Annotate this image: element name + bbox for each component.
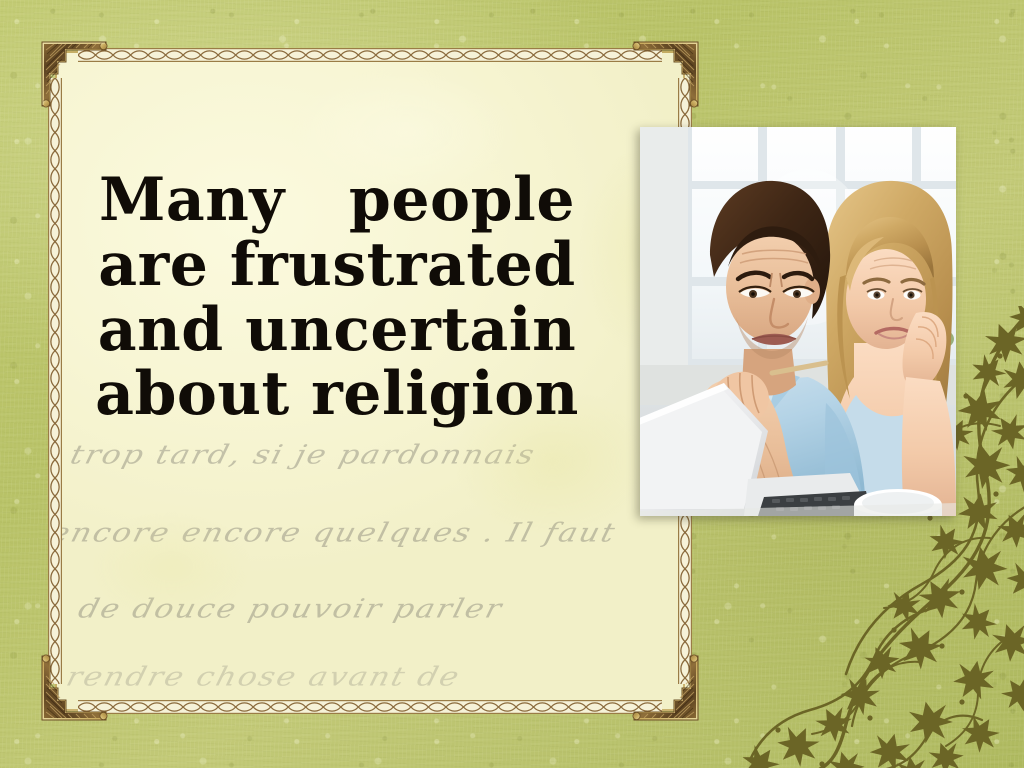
couple-photo [640, 127, 956, 516]
script-line: rendre chose avant de [63, 662, 464, 693]
headline-line: about religion [72, 362, 602, 427]
headline-line: and uncertain [72, 298, 602, 363]
script-line: de douce pouvoir parler [75, 594, 506, 625]
page-title: Many people are frustrated and uncertain… [72, 168, 602, 427]
script-line: trop tard, si je pardonnais [67, 440, 539, 471]
slide-canvas: trop tard, si je pardonnais encore encor… [0, 0, 1024, 768]
headline-line: Many people [72, 168, 602, 233]
handwriting-texture: trop tard, si je pardonnais encore encor… [57, 381, 692, 711]
script-line: encore encore quelques . Il faut [57, 518, 620, 549]
headline-line: are frustrated [72, 233, 602, 298]
